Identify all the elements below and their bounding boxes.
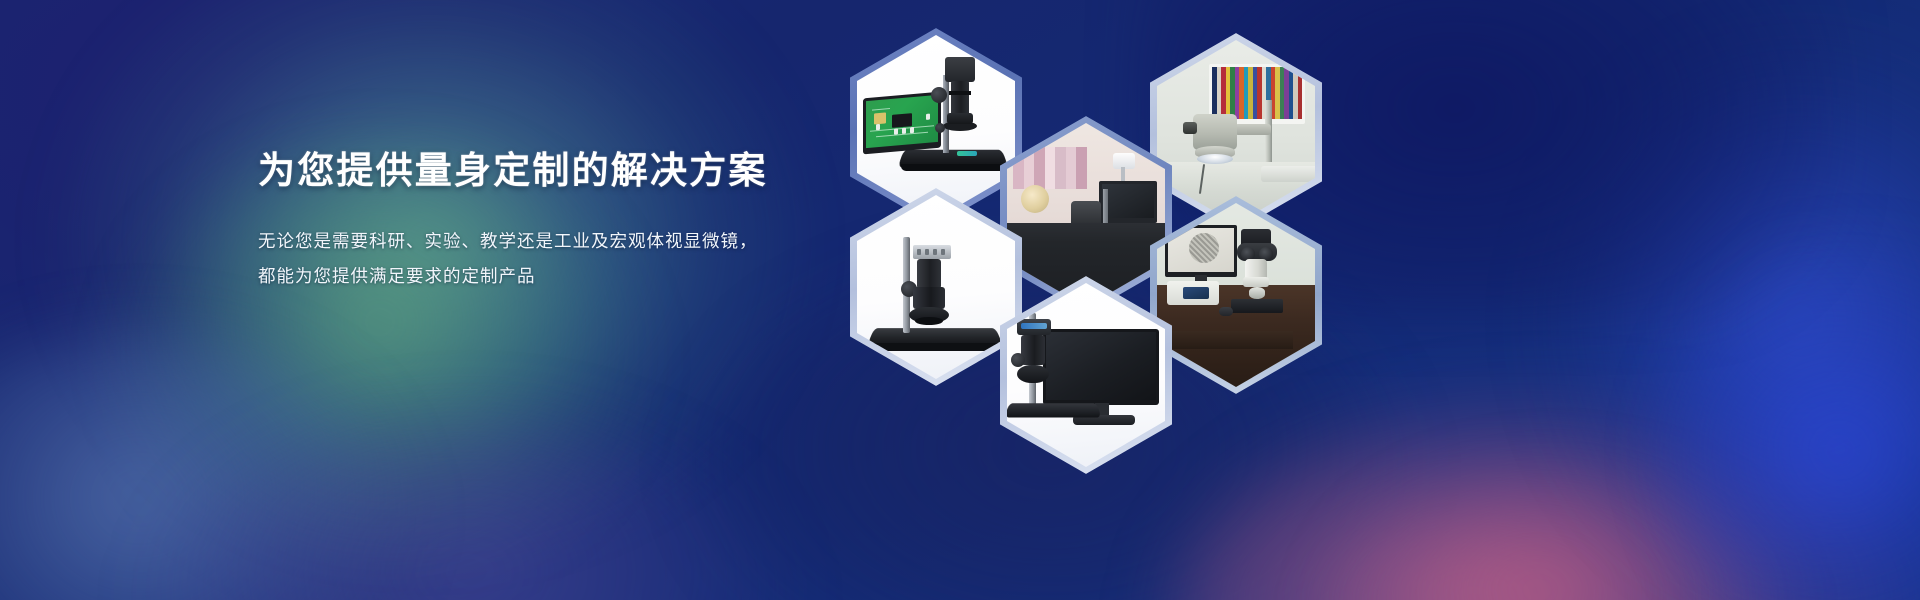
subtitle-line-2: 都能为您提供满足要求的定制产品 (258, 259, 878, 294)
page-title: 为您提供量身定制的解决方案 (258, 152, 878, 193)
subtitle-line-1: 无论您是需要科研、实验、教学还是工业及宏观体视显微镜， (258, 224, 878, 259)
color-chart-stripes (1212, 67, 1302, 119)
hexagon-monitor-camera-stand[interactable] (1000, 276, 1172, 474)
product-hexagon-cluster (828, 28, 1338, 448)
hexagon-desk-stereo-scope[interactable] (1150, 196, 1322, 394)
hero-banner: 为您提供量身定制的解决方案 无论您是需要科研、实验、教学还是工业及宏观体视显微镜… (0, 0, 1920, 600)
hero-text-block: 为您提供量身定制的解决方案 无论您是需要科研、实验、教学还是工业及宏观体视显微镜… (258, 152, 878, 294)
hero-subtitle: 无论您是需要科研、实验、教学还是工业及宏观体视显微镜， 都能为您提供满足要求的定… (258, 224, 878, 294)
hexagon-macro-lens-stand[interactable] (850, 188, 1022, 386)
